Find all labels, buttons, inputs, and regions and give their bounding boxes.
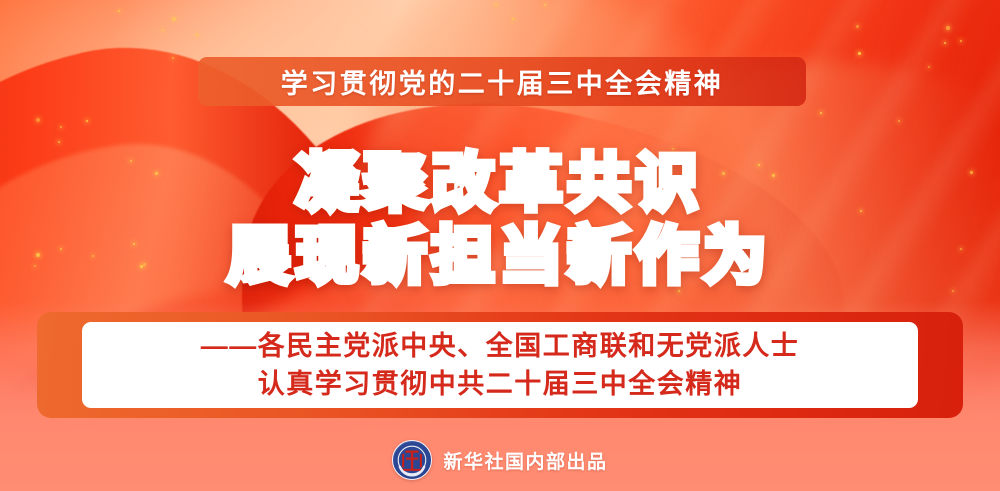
subtitle-frame: ——各民主党派中央、全国工商联和无党派人士 认真学习贯彻中共二十届三中全会精神	[37, 312, 963, 418]
xinhua-news-agency-logo-icon	[392, 440, 432, 480]
subtitle-line-2: 认真学习贯彻中共二十届三中全会精神	[258, 365, 743, 403]
footer: 新华社国内部出品	[0, 440, 1000, 480]
main-title-line-2: 展现新担当新作为	[0, 221, 1000, 294]
footer-text: 新华社国内部出品	[443, 447, 607, 474]
main-title: 凝聚改革共识 展现新担当新作为	[0, 148, 1000, 293]
subtitle-box: ——各民主党派中央、全国工商联和无党派人士 认真学习贯彻中共二十届三中全会精神	[82, 322, 918, 408]
poster-root: 学习贯彻党的二十届三中全会精神 凝聚改革共识 展现新担当新作为 ——各民主党派中…	[0, 0, 1000, 491]
campaign-banner-text: 学习贯彻党的二十届三中全会精神	[281, 62, 724, 101]
campaign-banner: 学习贯彻党的二十届三中全会精神	[198, 57, 806, 106]
main-title-line-1: 凝聚改革共识	[0, 148, 1000, 221]
subtitle-line-1: ——各民主党派中央、全国工商联和无党派人士	[201, 327, 800, 365]
